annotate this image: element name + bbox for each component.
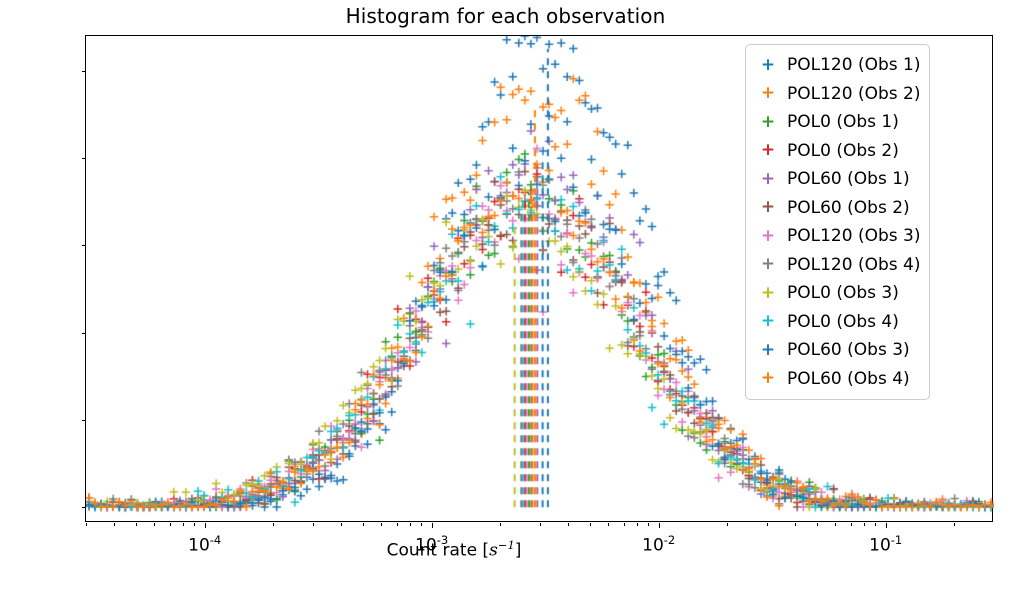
chart-legend[interactable]: +POL120 (Obs 1)+POL120 (Obs 2)+POL0 (Obs… <box>745 44 930 400</box>
legend-label: POL60 (Obs 2) <box>783 198 910 218</box>
x-tick-minor <box>608 523 609 526</box>
x-tick-minor <box>86 523 87 526</box>
legend-label: POL0 (Obs 2) <box>783 141 899 161</box>
legend-item[interactable]: +POL0 (Obs 1) <box>753 108 920 137</box>
legend-marker-plus-icon: + <box>753 285 783 302</box>
matplotlib-figure: Histogram for each observation 010020030… <box>0 0 1011 611</box>
x-tick-minor <box>114 523 115 526</box>
x-tick-minor <box>313 523 314 526</box>
x-tick-minor <box>381 523 382 526</box>
y-tick-mark <box>82 507 87 508</box>
legend-marker-plus-icon: + <box>753 142 783 159</box>
y-tick-mark <box>82 245 87 246</box>
x-tick-minor <box>637 523 638 526</box>
x-tick-minor <box>954 523 955 526</box>
x-tick-minor <box>341 523 342 526</box>
x-tick-minor <box>194 523 195 526</box>
legend-marker-plus-icon: + <box>753 57 783 74</box>
legend-label: POL120 (Obs 3) <box>783 226 920 246</box>
x-tick-mark <box>659 523 660 528</box>
legend-marker-plus-icon: + <box>753 114 783 131</box>
x-tick-minor <box>500 523 501 526</box>
x-tick-minor <box>568 523 569 526</box>
legend-label: POL60 (Obs 1) <box>783 169 910 189</box>
legend-marker-plus-icon: + <box>753 228 783 245</box>
legend-item[interactable]: +POL0 (Obs 4) <box>753 308 920 337</box>
x-tick-label: 10-1 <box>869 533 902 556</box>
x-tick-label: 10-4 <box>188 533 221 556</box>
x-tick-mark <box>886 523 887 528</box>
y-tick-mark <box>82 71 87 72</box>
x-axis-label: Count rate [s−1] <box>387 538 522 561</box>
legend-item[interactable]: +POL60 (Obs 2) <box>753 194 920 223</box>
x-tick-label: 10-2 <box>642 533 675 556</box>
x-tick-minor <box>170 523 171 526</box>
legend-marker-plus-icon: + <box>753 171 783 188</box>
legend-marker-plus-icon: + <box>753 342 783 359</box>
x-tick-minor <box>590 523 591 526</box>
legend-item[interactable]: +POL0 (Obs 2) <box>753 137 920 166</box>
legend-item[interactable]: +POL0 (Obs 3) <box>753 279 920 308</box>
legend-label: POL60 (Obs 3) <box>783 340 910 360</box>
legend-marker-plus-icon: + <box>753 199 783 216</box>
x-tick-minor <box>154 523 155 526</box>
chart-title: Histogram for each observation <box>0 4 1011 28</box>
legend-marker-plus-icon: + <box>753 85 783 102</box>
x-tick-minor <box>363 523 364 526</box>
y-tick-mark <box>82 158 87 159</box>
legend-label: POL0 (Obs 4) <box>783 312 899 332</box>
legend-label: POL60 (Obs 4) <box>783 369 910 389</box>
x-tick-minor <box>421 523 422 526</box>
legend-label: POL120 (Obs 2) <box>783 84 920 104</box>
y-tick-mark <box>82 333 87 334</box>
x-tick-minor <box>136 523 137 526</box>
legend-item[interactable]: +POL60 (Obs 4) <box>753 365 920 394</box>
x-tick-minor <box>727 523 728 526</box>
legend-marker-plus-icon: + <box>753 256 783 273</box>
x-tick-minor <box>397 523 398 526</box>
x-tick-minor <box>875 523 876 526</box>
legend-item[interactable]: +POL60 (Obs 3) <box>753 336 920 365</box>
legend-label: POL120 (Obs 4) <box>783 255 920 275</box>
legend-item[interactable]: +POL120 (Obs 1) <box>753 51 920 80</box>
x-tick-minor <box>767 523 768 526</box>
legend-label: POL120 (Obs 1) <box>783 55 920 75</box>
legend-item[interactable]: +POL60 (Obs 1) <box>753 165 920 194</box>
legend-marker-plus-icon: + <box>753 370 783 387</box>
x-tick-minor <box>273 523 274 526</box>
x-tick-minor <box>624 523 625 526</box>
x-tick-minor <box>183 523 184 526</box>
legend-item[interactable]: +POL120 (Obs 4) <box>753 251 920 280</box>
x-tick-minor <box>864 523 865 526</box>
x-tick-minor <box>817 523 818 526</box>
x-tick-minor <box>410 523 411 526</box>
x-tick-minor <box>835 523 836 526</box>
x-tick-minor <box>795 523 796 526</box>
legend-item[interactable]: +POL120 (Obs 3) <box>753 222 920 251</box>
y-tick-mark <box>82 420 87 421</box>
x-tick-mark <box>205 523 206 528</box>
legend-label: POL0 (Obs 3) <box>783 283 899 303</box>
x-tick-minor <box>851 523 852 526</box>
legend-label: POL0 (Obs 1) <box>783 112 899 132</box>
x-tick-minor <box>540 523 541 526</box>
legend-marker-plus-icon: + <box>753 313 783 330</box>
x-tick-minor <box>648 523 649 526</box>
x-tick-mark <box>432 523 433 528</box>
legend-item[interactable]: +POL120 (Obs 2) <box>753 80 920 109</box>
